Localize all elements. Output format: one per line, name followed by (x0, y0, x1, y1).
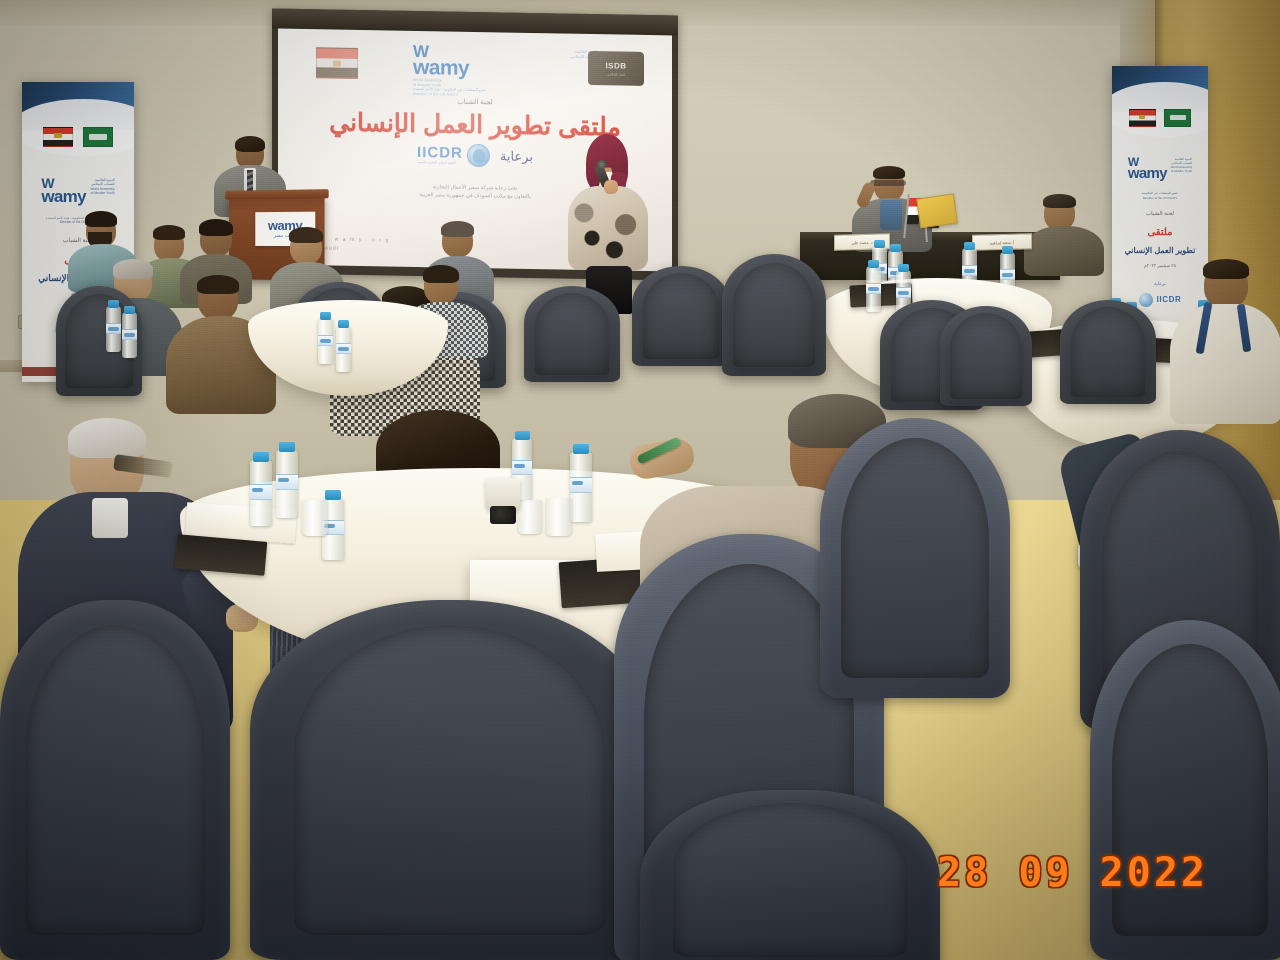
panelist-hair (1043, 194, 1076, 208)
chair (1060, 300, 1156, 404)
wamy-logo: W wamy World Assembly of Muslim Youth عض… (413, 45, 573, 99)
small-dish (490, 506, 516, 524)
attendee-hair (441, 221, 474, 237)
attendee-hair (289, 227, 323, 243)
drinking-glass (302, 500, 328, 536)
panelist-right (1024, 196, 1104, 270)
banner-flags (1112, 109, 1208, 127)
slide-sponsor-label: برعاية (500, 148, 533, 165)
chair-foreground-center (250, 600, 650, 960)
speaker-hair (235, 136, 265, 152)
egypt-flag-icon (316, 47, 358, 79)
drinking-glass (546, 498, 572, 536)
chair (940, 306, 1032, 406)
banner-title-secondary: تطوير العمل الإنساني (1112, 246, 1208, 255)
partner-logo-sub: البنك الإسلامي (607, 72, 625, 76)
chair-right-bottom (1090, 620, 1280, 960)
wamy-en-2: of Muslim Youth (1171, 169, 1192, 173)
banner-title-primary: ملتقى (1112, 227, 1208, 238)
banner-header-graphic (1112, 66, 1208, 112)
attendee-white-tee (1170, 262, 1280, 452)
wamy-wordmark: wamy (41, 189, 85, 205)
panelist-shirt (880, 200, 902, 230)
chair (722, 254, 826, 376)
water-bottle (250, 460, 272, 526)
wamy-wordmark: wamy (413, 58, 573, 81)
attendee-shirt-collar (92, 498, 128, 538)
iicdr-name: IICDR (417, 145, 463, 160)
attendee-hair (1203, 259, 1249, 279)
presenter-hand (604, 180, 618, 194)
globe-icon (467, 144, 490, 167)
name-placard-text: د. محمد علي (851, 239, 872, 245)
conference-photo: W wamy World Assembly of Muslim Youth عض… (0, 0, 1280, 960)
chair-foreground-left (0, 600, 230, 960)
drinking-glass (518, 500, 542, 534)
egypt-flag-icon (43, 127, 74, 147)
panelist-hair (873, 166, 905, 179)
water-bottle (122, 312, 137, 358)
water-bottle (106, 306, 121, 352)
iicdr-logo: IICDR المعهد الدولي للتعاون والتنمية (417, 143, 490, 167)
camera-date-stamp: 28 09 2022 (937, 850, 1208, 896)
globe-icon (1139, 293, 1153, 307)
presenter-blouse (568, 186, 648, 270)
wamy-en-2: of Muslim Youth (90, 191, 114, 195)
panelist-jacket (1024, 226, 1104, 276)
water-bottle (570, 452, 592, 522)
water-bottle (276, 450, 298, 518)
chair-bottom-center (640, 790, 940, 960)
iicdr-sub: المعهد الدولي للتعاون والتنمية (417, 159, 463, 164)
banner-committee-label: لجنة الشباب (1112, 211, 1208, 217)
attendee-white-hair-icon (68, 418, 146, 458)
glasses-icon (870, 180, 906, 186)
egypt-flag-icon (1129, 109, 1156, 127)
attendee-hair (197, 275, 239, 294)
partner-logo-text: ISDB (605, 61, 626, 70)
chair (632, 266, 730, 366)
water-bottle (336, 326, 351, 372)
chair (524, 286, 620, 382)
banner-header-graphic (22, 82, 134, 130)
banner-flags (22, 127, 134, 147)
wamy-wordmark: wamy (1128, 167, 1167, 181)
name-placard-text: أ. سعيد إبراهيم (990, 239, 1015, 245)
attendee-hair (423, 265, 459, 283)
saudi-flag-icon (1164, 109, 1191, 127)
attendee-white-tshirt (1170, 304, 1280, 424)
water-bottle (318, 318, 333, 364)
attendee-hair (199, 219, 233, 236)
water-bottle (866, 266, 881, 312)
chair-mid-right (820, 418, 1010, 698)
banner-member-en: Member of the UN NGO's (1112, 196, 1208, 200)
attendee-hair (85, 211, 117, 227)
podium-top (225, 189, 328, 200)
certificate-frame (916, 194, 958, 229)
attendee-gray-hair-icon (113, 259, 153, 279)
saudi-flag-icon (83, 127, 114, 147)
partner-logo: ISDB البنك الإسلامي (588, 51, 644, 86)
